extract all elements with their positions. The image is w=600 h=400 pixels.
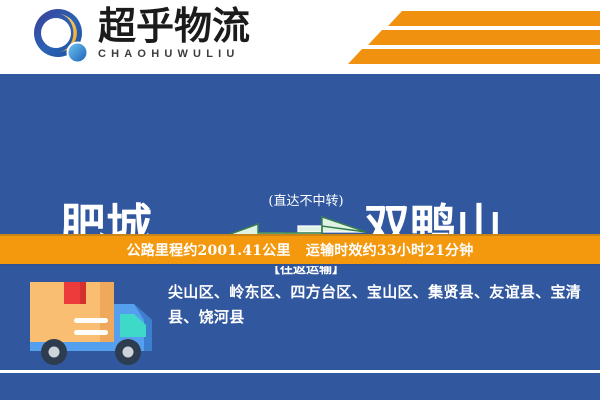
coverage-section: 尖山区、岭东区、四方台区、宝山区、集贤县、友谊县、宝清县、饶河县	[0, 268, 600, 400]
header: 超乎物流 CHAOHUWULIU	[0, 0, 600, 74]
delivery-truck-icon	[16, 276, 156, 376]
brand-name-en: CHAOHUWULIU	[98, 48, 273, 61]
decor-stripe-2	[368, 30, 600, 45]
route-info-bar: 公路里程约2001.41公里 运输时效约33小时21分钟	[0, 234, 600, 266]
coverage-areas-text: 尖山区、岭东区、四方台区、宝山区、集贤县、友谊县、宝清县、饶河县	[168, 280, 586, 330]
direct-service-note: (直达不中转)	[246, 194, 366, 210]
decor-stripe-1	[388, 11, 600, 26]
route-section: 肥城 (直达不中转) 【往返运输】 双鸭山	[0, 74, 600, 234]
brand-name-cn: 超乎物流	[98, 5, 273, 47]
circle-crescent-logo-icon	[33, 8, 91, 66]
decor-stripe-3	[348, 49, 600, 64]
bottom-divider	[0, 370, 600, 373]
brand-wordmark: 超乎物流 CHAOHUWULIU	[98, 5, 273, 67]
logistics-route-banner: 超乎物流 CHAOHUWULIU 肥城 (直达不中转)	[0, 0, 600, 400]
distance-duration-text: 公路里程约2001.41公里 运输时效约33小时21分钟	[127, 240, 474, 260]
